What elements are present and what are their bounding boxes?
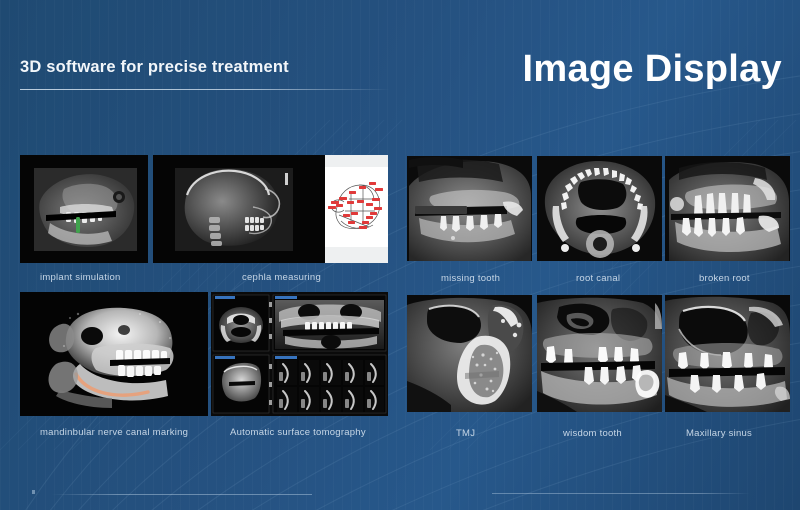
panel-missing-tooth[interactable] xyxy=(407,156,532,261)
panel-tmj[interactable] xyxy=(407,295,532,412)
caption-cephla-measuring: cephla measuring xyxy=(242,272,321,283)
panel-broken-root[interactable] xyxy=(665,156,790,261)
cbct-sagittal-implant-planning-image xyxy=(20,155,148,263)
slide-canvas: 3D software for precise treatment Image … xyxy=(0,0,800,510)
caption-nerve-canal-marking: mandinbular nerve canal marking xyxy=(40,427,188,438)
multiplanar-reconstruction-quad-view-image xyxy=(211,292,388,416)
header-rule xyxy=(20,89,390,90)
panel-maxillary-sinus[interactable] xyxy=(665,295,790,412)
panel-cephla-measuring[interactable] xyxy=(153,155,388,263)
footer-line-left xyxy=(52,494,312,495)
caption-maxillary-sinus: Maxillary sinus xyxy=(686,428,752,439)
3d-skull-volume-render-nerve-canal-image xyxy=(20,292,208,416)
cbct-tmj-sagittal-image xyxy=(407,295,532,412)
panel-nerve-canal-marking[interactable] xyxy=(20,292,208,416)
caption-broken-root: broken root xyxy=(699,273,750,284)
caption-automatic-surface-tomography: Automatic surface tomography xyxy=(230,427,366,438)
caption-wisdom-tooth: wisdom tooth xyxy=(563,428,622,439)
caption-implant-simulation: implant simulation xyxy=(40,272,121,283)
caption-root-canal: root canal xyxy=(576,273,620,284)
cbct-maxillary-sinus-sagittal-image xyxy=(665,295,790,412)
footer-tick xyxy=(32,490,35,494)
footer-line-right xyxy=(492,493,750,494)
caption-tmj: TMJ xyxy=(456,428,475,439)
cbct-axial-dental-arch-image xyxy=(537,156,662,261)
page-title: Image Display xyxy=(523,50,782,90)
panel-implant-simulation[interactable] xyxy=(20,155,148,263)
panel-automatic-surface-tomography[interactable] xyxy=(211,292,388,416)
panel-root-canal[interactable] xyxy=(537,156,662,261)
cbct-sagittal-missing-tooth-image xyxy=(407,156,532,261)
header-left: 3D software for precise treatment xyxy=(20,58,400,90)
cbct-wisdom-tooth-sagittal-image xyxy=(537,295,662,412)
caption-missing-tooth: missing tooth xyxy=(441,273,500,284)
cbct-sagittal-broken-root-image xyxy=(665,156,790,261)
lateral-cephalogram-with-tracing-image xyxy=(153,155,388,263)
page-subtitle: 3D software for precise treatment xyxy=(20,58,400,78)
panel-wisdom-tooth[interactable] xyxy=(537,295,662,412)
